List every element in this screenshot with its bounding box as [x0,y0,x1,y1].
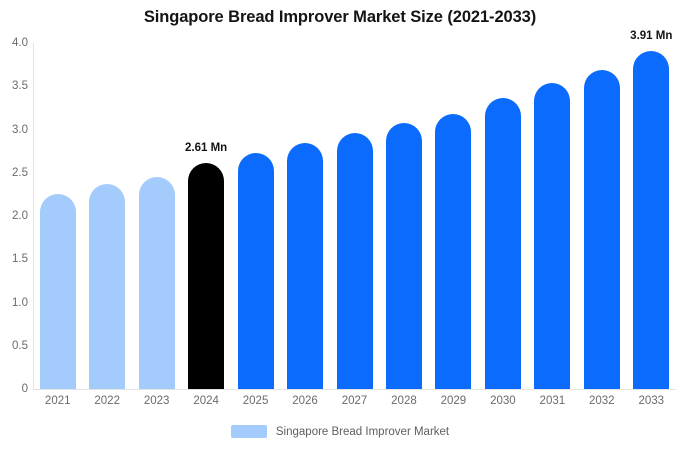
y-axis-tick-label: 3.0 [12,124,28,136]
x-axis-tick-label-2021: 2021 [45,395,71,407]
legend-label-0[interactable]: Singapore Bread Improver Market [276,426,449,438]
x-axis-tick-label-2030: 2030 [490,395,516,407]
y-axis-tick-label: 3.5 [12,80,28,92]
y-axis-tick-label: 2.5 [12,167,28,179]
bar-value-label-2033: 3.91 Mn [630,30,672,42]
bar-2027[interactable] [337,133,373,389]
x-axis-tick-label-2033: 2033 [638,395,664,407]
y-axis-tick-label: 2.0 [12,210,28,222]
x-axis-tick-label-2022: 2022 [94,395,120,407]
y-axis-line [33,43,34,389]
y-axis-tick-label: 1.0 [12,297,28,309]
bar-2032[interactable] [584,70,620,389]
chart-legend: Singapore Bread Improver Market [0,425,680,438]
bar-value-label-2024: 2.61 Mn [185,142,227,154]
bar-2026[interactable] [287,143,323,389]
bar-2031[interactable] [534,83,570,389]
y-axis-tick-label: 0 [22,383,28,395]
x-axis-tick-label-2023: 2023 [144,395,170,407]
x-axis-tick-label-2028: 2028 [391,395,417,407]
x-axis-tick-label-2026: 2026 [292,395,318,407]
x-axis-tick-label-2031: 2031 [540,395,566,407]
x-axis-tick-label-2027: 2027 [342,395,368,407]
y-axis-tick-label: 4.0 [12,37,28,49]
y-axis-tick-label: 1.5 [12,253,28,265]
x-axis-line [33,389,676,390]
legend-swatch-0[interactable] [231,425,267,438]
bar-2023[interactable] [139,177,175,389]
x-axis-tick-label-2024: 2024 [193,395,219,407]
y-axis-tick-label: 0.5 [12,340,28,352]
bar-2030[interactable] [485,98,521,390]
bar-2028[interactable] [386,123,422,389]
x-axis-tick-label-2032: 2032 [589,395,615,407]
bar-2024[interactable] [188,163,224,389]
chart-title: Singapore Bread Improver Market Size (20… [0,8,680,27]
x-axis-tick-label-2025: 2025 [243,395,269,407]
bar-2022[interactable] [89,184,125,389]
chart-container: Singapore Bread Improver Market Size (20… [0,0,680,450]
bar-2021[interactable] [40,194,76,389]
bar-2025[interactable] [238,153,274,389]
plot-area: 20212022202320242.61 Mn20252026202720282… [33,43,676,389]
bar-2033[interactable] [633,51,669,389]
bar-2029[interactable] [435,114,471,389]
x-axis-tick-label-2029: 2029 [441,395,467,407]
